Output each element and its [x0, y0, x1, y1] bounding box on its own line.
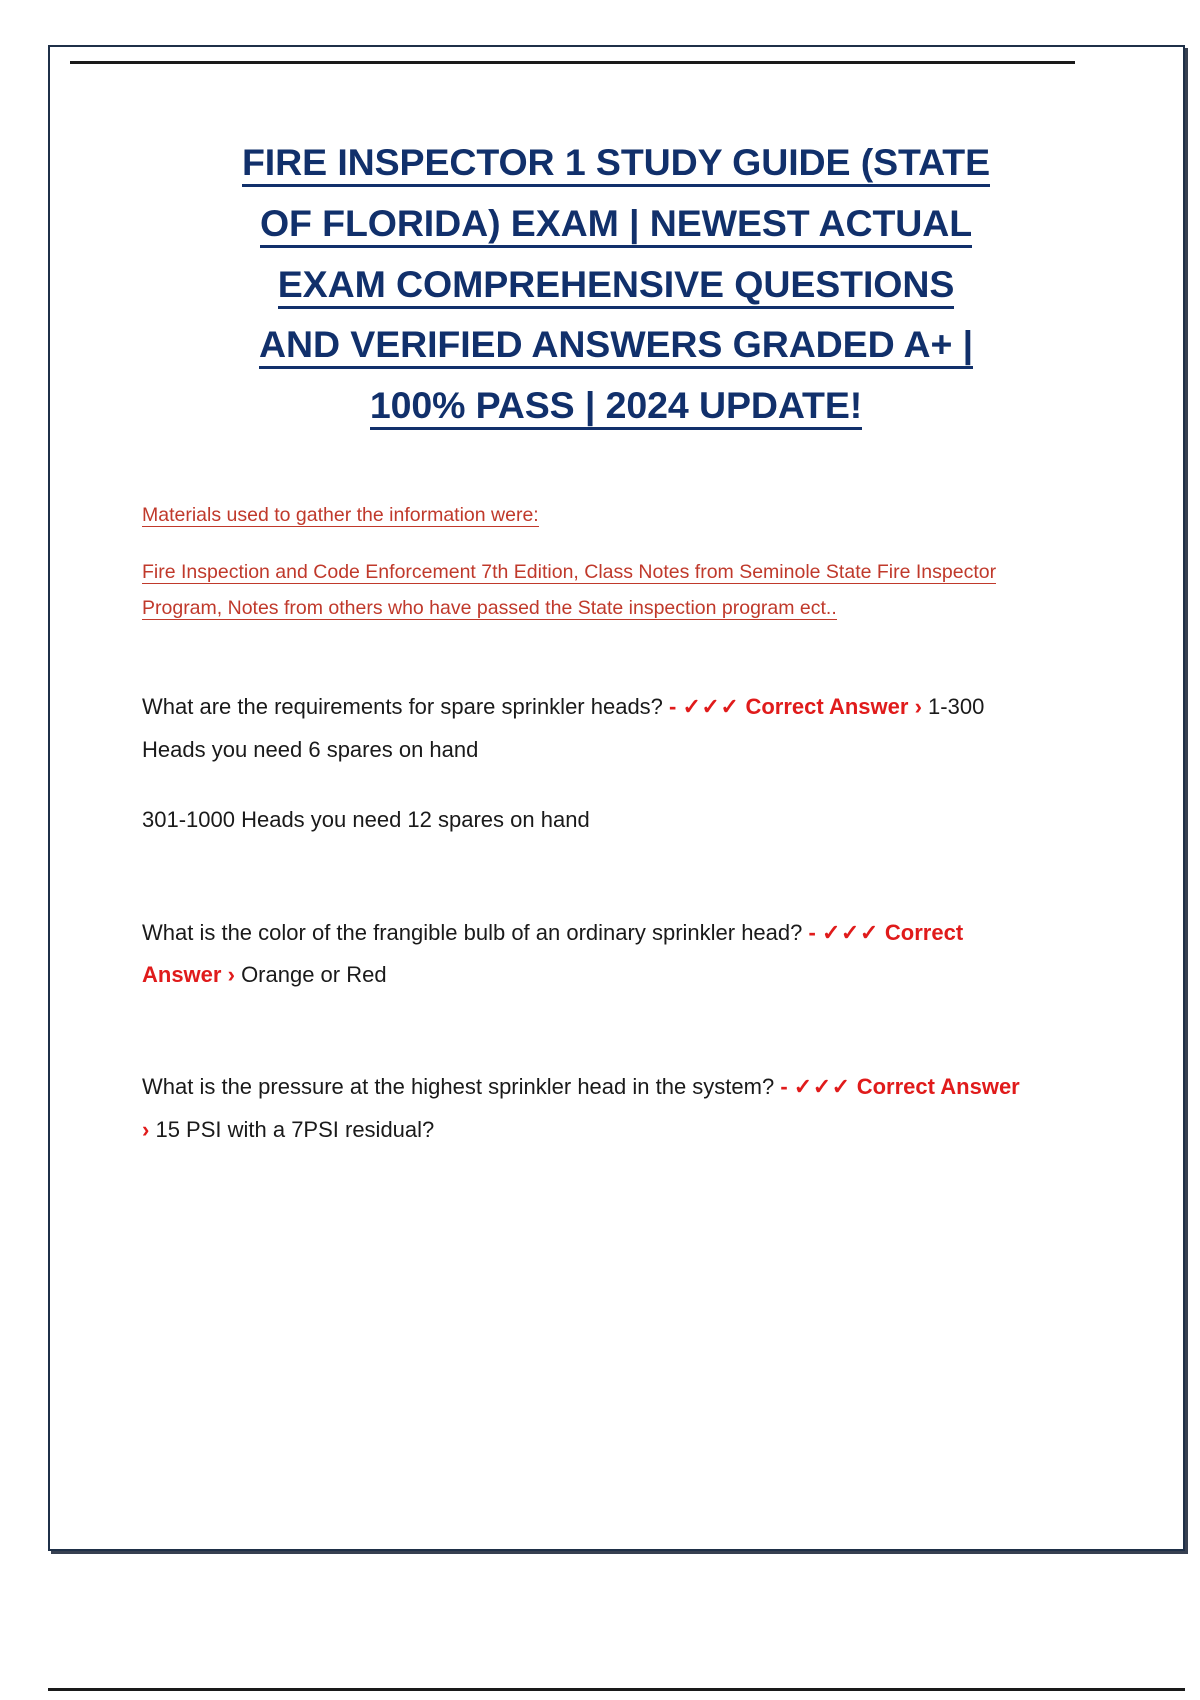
chevron-right-icon: › — [228, 962, 235, 987]
check-icon: ✓✓✓ — [822, 920, 879, 945]
question-text: What is the color of the frangible bulb … — [142, 920, 802, 945]
qa-item: What is the color of the frangible bulb … — [136, 912, 1021, 997]
title-line: AND VERIFIED ANSWERS GRADED A+ | — [148, 314, 1084, 375]
document-page: FIRE INSPECTOR 1 STUDY GUIDE (STATE OF F… — [48, 45, 1185, 1551]
answer-marker-label: Correct Answer — [745, 694, 908, 719]
qa-line: What are the requirements for spare spri… — [142, 686, 1021, 771]
page-title: FIRE INSPECTOR 1 STUDY GUIDE (STATE OF F… — [136, 132, 1096, 436]
check-icon: ✓✓✓ — [683, 694, 740, 719]
qa-line: What is the pressure at the highest spri… — [142, 1066, 1021, 1151]
chevron-right-icon: › — [142, 1117, 149, 1142]
qa-item: What is the pressure at the highest spri… — [136, 1066, 1021, 1151]
sources-heading: Materials used to gather the information… — [142, 498, 1096, 533]
answer-text: 15 PSI with a 7PSI residual? — [155, 1117, 434, 1142]
sources-section: Materials used to gather the information… — [136, 498, 1096, 626]
title-line: OF FLORIDA) EXAM | NEWEST ACTUAL — [148, 193, 1084, 254]
sources-body: Fire Inspection and Code Enforcement 7th… — [142, 555, 1002, 626]
answer-dash: - — [809, 920, 816, 945]
answer-dash: - — [780, 1074, 787, 1099]
qa-item: What are the requirements for spare spri… — [136, 686, 1021, 841]
answer-extra-line: 301-1000 Heads you need 12 spares on han… — [142, 799, 1021, 841]
question-text: What are the requirements for spare spri… — [142, 694, 663, 719]
title-line: 100% PASS | 2024 UPDATE! — [148, 375, 1084, 436]
answer-text: Orange or Red — [241, 962, 387, 987]
title-line: EXAM COMPREHENSIVE QUESTIONS — [148, 254, 1084, 315]
next-page-edge — [48, 1688, 1185, 1700]
header-divider-rule — [70, 61, 1075, 64]
chevron-right-icon: › — [915, 694, 922, 719]
title-line: FIRE INSPECTOR 1 STUDY GUIDE (STATE — [148, 132, 1084, 193]
answer-dash: - — [669, 694, 676, 719]
check-icon: ✓✓✓ — [794, 1074, 851, 1099]
question-text: What is the pressure at the highest spri… — [142, 1074, 774, 1099]
answer-marker-label: Correct Answer — [857, 1074, 1020, 1099]
page-content: FIRE INSPECTOR 1 STUDY GUIDE (STATE OF F… — [136, 132, 1096, 1151]
qa-line: What is the color of the frangible bulb … — [142, 912, 1021, 997]
